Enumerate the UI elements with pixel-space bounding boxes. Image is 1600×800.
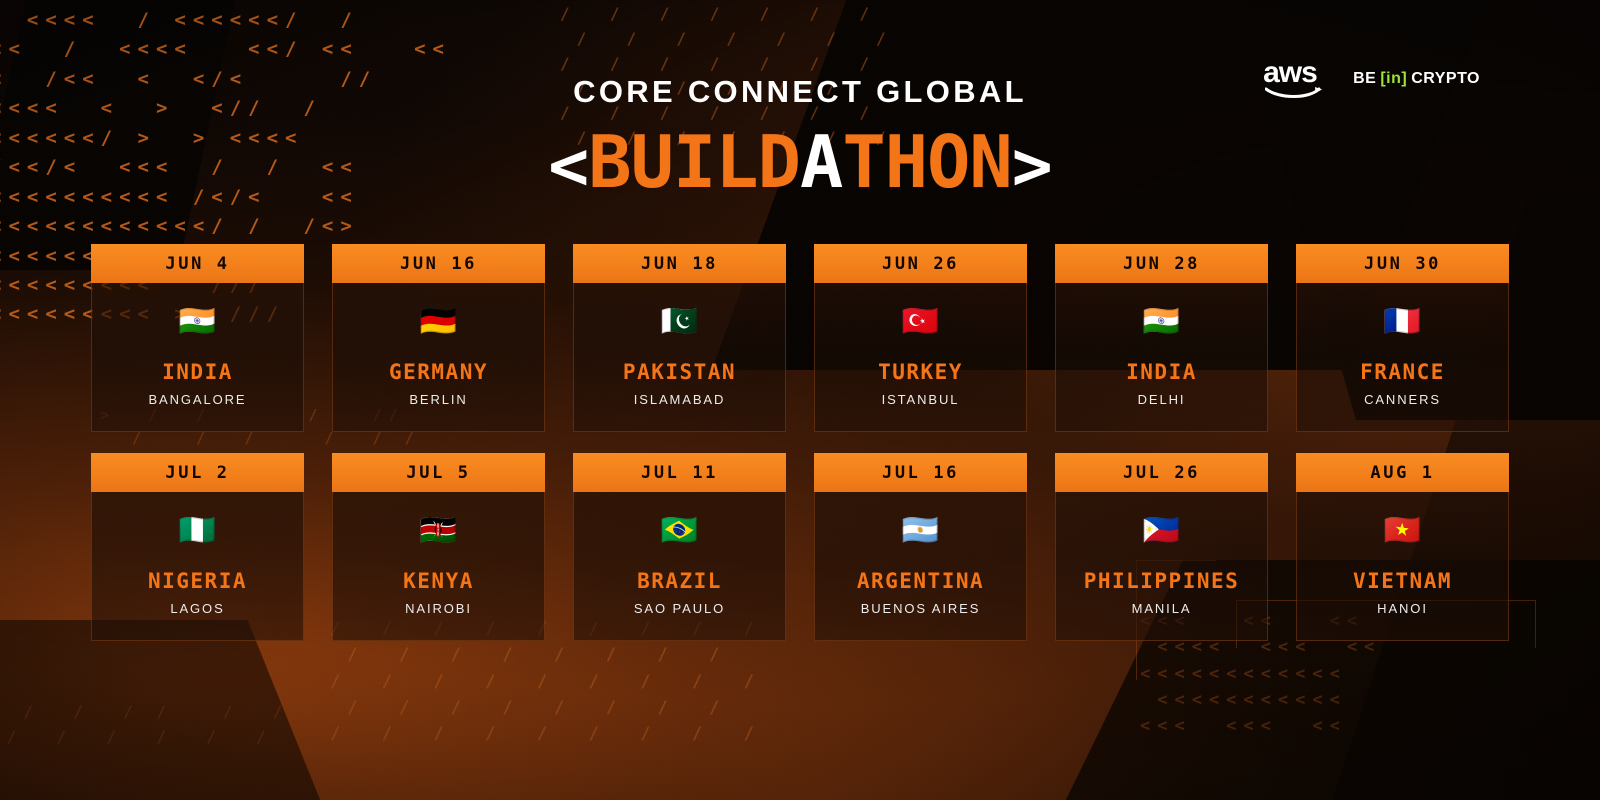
event-card-city: CANNERS xyxy=(1364,392,1441,407)
country-flag-icon: 🇮🇳 xyxy=(1143,305,1180,339)
country-flag-icon: 🇵🇭 xyxy=(1143,514,1180,548)
event-card[interactable]: JUL 2🇳🇬NIGERIALAGOS xyxy=(91,453,304,641)
country-flag-icon: 🇵🇰 xyxy=(661,305,698,339)
country-flag-icon: 🇻🇳 xyxy=(1384,514,1421,548)
event-card-city: MANILA xyxy=(1132,601,1192,616)
event-card-body: 🇦🇷ARGENTINABUENOS AIRES xyxy=(814,492,1027,641)
event-card[interactable]: JUL 11🇧🇷BRAZILSAO PAULO xyxy=(573,453,786,641)
event-card-country: PHILIPPINES xyxy=(1084,570,1240,592)
event-card-body: 🇳🇬NIGERIALAGOS xyxy=(91,492,304,641)
event-card-body: 🇵🇭PHILIPPINESMANILA xyxy=(1055,492,1268,641)
title-build: BUILD xyxy=(588,120,800,204)
event-card[interactable]: JUN 28🇮🇳INDIADELHI xyxy=(1055,244,1268,432)
title-a: A xyxy=(800,120,842,204)
event-card-city: DELHI xyxy=(1138,392,1186,407)
event-card-date: JUL 26 xyxy=(1055,453,1268,492)
event-card-country: INDIA xyxy=(162,361,233,383)
event-card-country: NIGERIA xyxy=(148,570,247,592)
event-card-city: ISTANBUL xyxy=(882,392,960,407)
event-card-city: BERLIN xyxy=(409,392,467,407)
event-card[interactable]: JUN 4🇮🇳INDIABANGALORE xyxy=(91,244,304,432)
beincrypto-crypto: CRYPTO xyxy=(1411,70,1480,88)
title-thon: THON xyxy=(842,120,1011,204)
event-card-date: JUN 26 xyxy=(814,244,1027,283)
event-card-body: 🇫🇷FRANCECANNERS xyxy=(1296,283,1509,432)
event-card-city: HANOI xyxy=(1377,601,1428,616)
event-card-date: JUN 30 xyxy=(1296,244,1509,283)
event-card-country: INDIA xyxy=(1126,361,1197,383)
event-card[interactable]: AUG 1🇻🇳VIETNAMHANOI xyxy=(1296,453,1509,641)
event-card-body: 🇧🇷BRAZILSAO PAULO xyxy=(573,492,786,641)
event-card-country: ARGENTINA xyxy=(857,570,984,592)
event-card-body: 🇹🇷TURKEYISTANBUL xyxy=(814,283,1027,432)
event-card-country: GERMANY xyxy=(389,361,488,383)
event-card-date: AUG 1 xyxy=(1296,453,1509,492)
aws-logo: aws xyxy=(1263,60,1325,98)
event-card-country: FRANCE xyxy=(1360,361,1445,383)
event-card-country: PAKISTAN xyxy=(623,361,736,383)
beincrypto-logo: BE [in] CRYPTO xyxy=(1353,69,1480,89)
event-card-date: JUL 2 xyxy=(91,453,304,492)
event-card[interactable]: JUN 26🇹🇷TURKEYISTANBUL xyxy=(814,244,1027,432)
aws-smile-icon xyxy=(1265,86,1323,99)
event-card-body: 🇮🇳INDIABANGALORE xyxy=(91,283,304,432)
country-flag-icon: 🇦🇷 xyxy=(902,514,939,548)
poster-canvas: <<<< / <<<<<</ / << / <<<< <</ << << < /… xyxy=(0,0,1600,800)
event-card-body: 🇰🇪KENYANAIROBI xyxy=(332,492,545,641)
country-flag-icon: 🇫🇷 xyxy=(1384,305,1421,339)
country-flag-icon: 🇩🇪 xyxy=(420,305,457,339)
aws-wordmark: aws xyxy=(1263,60,1325,86)
event-card-date: JUL 5 xyxy=(332,453,545,492)
event-card-city: BUENOS AIRES xyxy=(861,601,981,616)
country-flag-icon: 🇹🇷 xyxy=(902,305,939,339)
poster-footer: CORE JUNE 4 - AUGUST 1 2025 CORE Venture… xyxy=(0,660,1600,760)
event-card-date: JUL 11 xyxy=(573,453,786,492)
country-flag-icon: 🇳🇬 xyxy=(179,514,216,548)
partner-logos: aws BE [in] CRYPTO xyxy=(1263,60,1480,98)
event-card-city: SAO PAULO xyxy=(634,601,725,616)
event-card-city: NAIROBI xyxy=(405,601,472,616)
event-cards-grid: JUN 4🇮🇳INDIABANGALOREJUN 16🇩🇪GERMANYBERL… xyxy=(91,244,1509,641)
beincrypto-be: BE xyxy=(1353,70,1376,88)
event-card-date: JUN 18 xyxy=(573,244,786,283)
event-card-country: BRAZIL xyxy=(637,570,722,592)
event-card-date: JUN 28 xyxy=(1055,244,1268,283)
country-flag-icon: 🇧🇷 xyxy=(661,514,698,548)
event-card-body: 🇵🇰PAKISTANISLAMABAD xyxy=(573,283,786,432)
event-card-city: LAGOS xyxy=(170,601,224,616)
event-card-city: ISLAMABAD xyxy=(634,392,726,407)
event-card-city: BANGALORE xyxy=(148,392,246,407)
title-bracket-close: > xyxy=(1012,127,1052,206)
event-card-country: VIETNAM xyxy=(1353,570,1452,592)
event-card-date: JUL 16 xyxy=(814,453,1027,492)
event-card-date: JUN 16 xyxy=(332,244,545,283)
event-card-body: 🇩🇪GERMANYBERLIN xyxy=(332,283,545,432)
country-flag-icon: 🇰🇪 xyxy=(420,514,457,548)
title-bracket-open: < xyxy=(548,127,588,206)
event-card[interactable]: JUN 30🇫🇷FRANCECANNERS xyxy=(1296,244,1509,432)
event-card[interactable]: JUL 16🇦🇷ARGENTINABUENOS AIRES xyxy=(814,453,1027,641)
event-card-body: 🇻🇳VIETNAMHANOI xyxy=(1296,492,1509,641)
event-card-body: 🇮🇳INDIADELHI xyxy=(1055,283,1268,432)
event-card-date: JUN 4 xyxy=(91,244,304,283)
page-title: <BUILDATHON> xyxy=(0,126,1600,201)
event-card[interactable]: JUN 18🇵🇰PAKISTANISLAMABAD xyxy=(573,244,786,432)
event-card[interactable]: JUL 5🇰🇪KENYANAIROBI xyxy=(332,453,545,641)
beincrypto-in: [in] xyxy=(1380,70,1407,88)
event-card[interactable]: JUN 16🇩🇪GERMANYBERLIN xyxy=(332,244,545,432)
event-card[interactable]: JUL 26🇵🇭PHILIPPINESMANILA xyxy=(1055,453,1268,641)
event-card-country: TURKEY xyxy=(878,361,963,383)
country-flag-icon: 🇮🇳 xyxy=(179,305,216,339)
event-card-country: KENYA xyxy=(403,570,474,592)
